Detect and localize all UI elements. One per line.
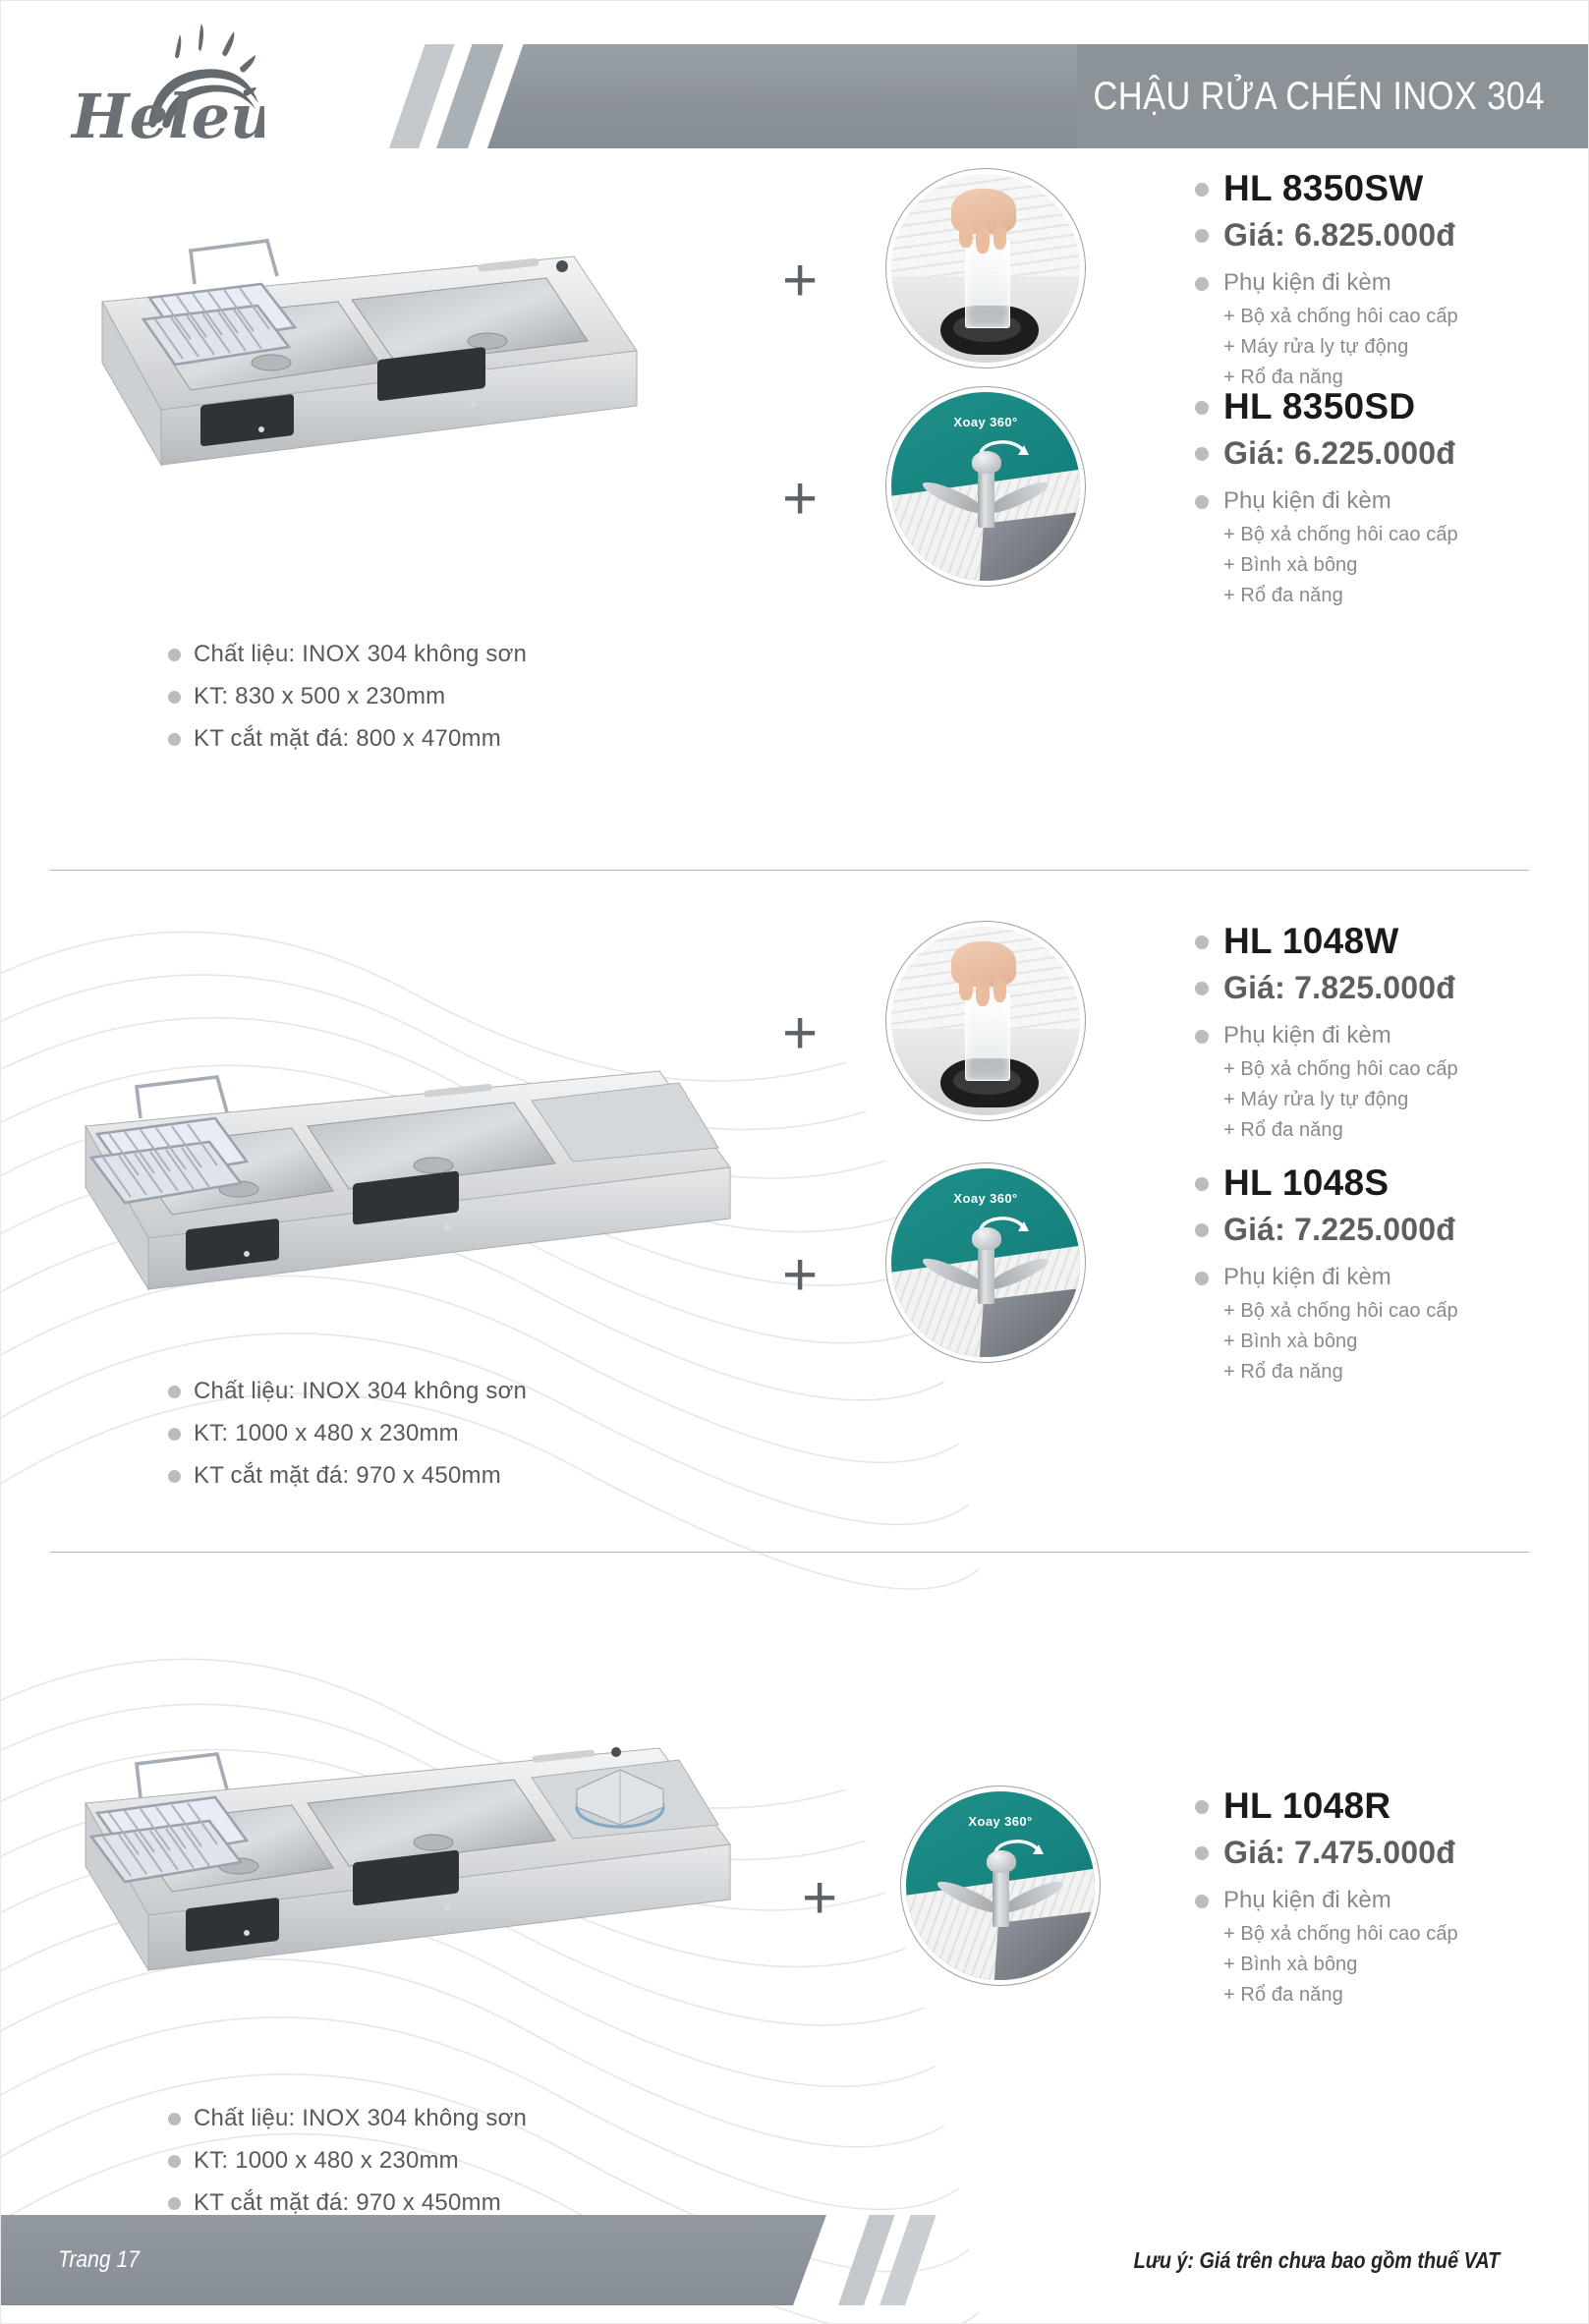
accessories-list: + Bộ xả chống hôi cao cấp + Bình xà bông… [1223, 1919, 1588, 2011]
spec-item: KT cắt mặt đá: 800 x 470mm [168, 724, 527, 754]
product-code: HL 1048R [1223, 1786, 1390, 1828]
spec-material: Chất liệu: INOX 304 không sơn [194, 640, 527, 669]
product-price: Giá: 6.825.000đ [1223, 216, 1455, 254]
product-price-row: Giá: 7.825.000đ [1195, 969, 1588, 1006]
accessory-item: + Rổ đa năng [1223, 1980, 1588, 2011]
heleu-sun-logo-icon: Heleu [38, 23, 264, 150]
accessories-list: + Bộ xả chống hôi cao cấp + Bình xà bông… [1223, 1296, 1588, 1388]
bullet-icon [168, 1428, 181, 1441]
spec-cutout: KT cắt mặt đá: 800 x 470mm [194, 724, 501, 754]
section-divider [50, 1552, 1529, 1553]
accessory-item: + Bộ xả chống hôi cao cấp [1223, 1054, 1588, 1085]
product-section-8350: Chất liệu: INOX 304 không sơn KT: 830 x … [1, 168, 1589, 856]
accessory-item: + Bộ xả chống hôi cao cấp [1223, 520, 1588, 550]
accessory-item: + Bình xà bông [1223, 1327, 1588, 1357]
plus-icon: + [782, 251, 818, 312]
bullet-icon [168, 2155, 181, 2168]
plus-icon: + [782, 1245, 818, 1306]
accessories-title-row: Phụ kiện đi kèm [1195, 1885, 1588, 1915]
product-code: HL 8350SW [1223, 168, 1424, 210]
accessory-image-glass-washer [885, 168, 1086, 368]
bullet-icon [1195, 1272, 1209, 1285]
bullet-icon [168, 1386, 181, 1398]
product-price-row: Giá: 7.225.000đ [1195, 1211, 1588, 1248]
page-footer: Trang 17 Lưu ý: Giá trên chưa bao gồm th… [1, 2215, 1589, 2305]
product-code: HL 8350SD [1223, 386, 1415, 428]
spec-dimensions: KT: 830 x 500 x 230mm [194, 682, 445, 711]
spec-list-1048ws: Chất liệu: INOX 304 không sơn KT: 1000 x… [168, 1377, 527, 1503]
spec-material: Chất liệu: INOX 304 không sơn [194, 1377, 527, 1406]
spec-item: KT cắt mặt đá: 970 x 450mm [168, 1461, 527, 1491]
section-divider [50, 870, 1529, 871]
spec-list-1048r: Chất liệu: INOX 304 không sơn KT: 1000 x… [168, 2104, 527, 2231]
bullet-icon [168, 733, 181, 746]
product-price: Giá: 7.825.000đ [1223, 969, 1455, 1006]
accessories-title-row: Phụ kiện đi kèm [1195, 1020, 1588, 1050]
bullet-icon [1195, 1846, 1209, 1860]
spec-item: KT cắt mặt đá: 970 x 450mm [168, 2188, 527, 2218]
accessory-item: + Máy rửa ly tự động [1223, 332, 1588, 363]
accessories-list: + Bộ xả chống hôi cao cấp + Bình xà bông… [1223, 520, 1588, 611]
product-code-row: HL 1048W [1195, 921, 1588, 963]
product-info-1048r: HL 1048R Giá: 7.475.000đ Phụ kiện đi kèm… [1195, 1786, 1588, 2011]
product-info-1048w: HL 1048W Giá: 7.825.000đ Phụ kiện đi kèm… [1195, 921, 1588, 1146]
bullet-icon [1195, 1223, 1209, 1237]
product-price: Giá: 6.225.000đ [1223, 434, 1455, 472]
spec-item: Chất liệu: INOX 304 không sơn [168, 640, 527, 669]
bullet-icon [1195, 982, 1209, 995]
product-code-row: HL 1048S [1195, 1162, 1588, 1205]
accessory-image-soap-dispenser: Xoay 360° [885, 1162, 1086, 1363]
accessories-title: Phụ kiện đi kèm [1223, 485, 1391, 516]
spec-dimensions: KT: 1000 x 480 x 230mm [194, 2146, 459, 2176]
bullet-icon [1195, 1800, 1209, 1814]
product-code-row: HL 8350SD [1195, 386, 1588, 428]
bullet-icon [1195, 447, 1209, 461]
spec-material: Chất liệu: INOX 304 không sơn [194, 2104, 527, 2133]
product-code-row: HL 8350SW [1195, 168, 1588, 210]
product-price-row: Giá: 6.225.000đ [1195, 434, 1588, 472]
accessories-title-row: Phụ kiện đi kèm [1195, 485, 1588, 516]
spec-item: Chất liệu: INOX 304 không sơn [168, 2104, 527, 2133]
rotate-360-badge: Xoay 360° [891, 415, 1080, 429]
accessory-item: + Rổ đa năng [1223, 581, 1588, 611]
product-section-1048-r: Chất liệu: INOX 304 không sơn KT: 1000 x… [1, 1554, 1589, 2232]
product-price: Giá: 7.475.000đ [1223, 1834, 1455, 1871]
spec-cutout: KT cắt mặt đá: 970 x 450mm [194, 2188, 501, 2218]
product-info-1048s: HL 1048S Giá: 7.225.000đ Phụ kiện đi kèm… [1195, 1162, 1588, 1388]
product-code: HL 1048S [1223, 1162, 1389, 1205]
page-header: Heleu CHẬU RỬA CHÉN INOX 304 [1, 1, 1589, 168]
product-price-row: Giá: 7.475.000đ [1195, 1834, 1588, 1871]
bullet-icon [1195, 1177, 1209, 1191]
spec-dimensions: KT: 1000 x 480 x 230mm [194, 1419, 459, 1448]
spec-list-8350: Chất liệu: INOX 304 không sơn KT: 830 x … [168, 640, 527, 766]
plus-icon: + [782, 469, 818, 530]
bullet-icon [1195, 183, 1209, 197]
spec-item: KT: 1000 x 480 x 230mm [168, 1419, 527, 1448]
bullet-icon [1195, 935, 1209, 949]
accessory-image-glass-washer [885, 921, 1086, 1121]
brand-logo: Heleu [38, 23, 264, 150]
accessories-list: + Bộ xả chống hôi cao cấp + Máy rửa ly t… [1223, 1054, 1588, 1146]
header-banner: CHẬU RỬA CHÉN INOX 304 [389, 44, 1589, 148]
page-title: CHẬU RỬA CHÉN INOX 304 [808, 44, 1568, 148]
product-price: Giá: 7.225.000đ [1223, 1211, 1455, 1248]
accessory-item: + Bình xà bông [1223, 1950, 1588, 1980]
bullet-icon [168, 2197, 181, 2210]
spec-cutout: KT cắt mặt đá: 970 x 450mm [194, 1461, 501, 1491]
bullet-icon [1195, 495, 1209, 509]
bullet-icon [1195, 277, 1209, 291]
accessory-item: + Rổ đa năng [1223, 1357, 1588, 1388]
sink-image-8350 [85, 237, 654, 527]
catalog-page: Heleu CHẬU RỬA CHÉN INOX 304 [0, 0, 1589, 2324]
accessory-image-soap-dispenser: Xoay 360° [900, 1786, 1101, 1986]
vat-note: Lưu ý: Giá trên chưa bao gồm thuế VAT [1133, 2215, 1500, 2305]
accessories-title-row: Phụ kiện đi kèm [1195, 1262, 1588, 1292]
sink-image-1048ws [70, 1057, 758, 1347]
product-info-8350sw: HL 8350SW Giá: 6.825.000đ Phụ kiện đi kè… [1195, 168, 1588, 393]
accessories-title: Phụ kiện đi kèm [1223, 1885, 1391, 1915]
product-info-8350sd: HL 8350SD Giá: 6.225.000đ Phụ kiện đi kè… [1195, 386, 1588, 611]
accessory-image-soap-dispenser: Xoay 360° [885, 386, 1086, 587]
bullet-icon [1195, 401, 1209, 415]
accessories-title-row: Phụ kiện đi kèm [1195, 267, 1588, 298]
rotate-360-badge: Xoay 360° [891, 1191, 1080, 1206]
heleu-wordmark: Heleu [70, 81, 264, 150]
plus-icon: + [802, 1868, 837, 1929]
bullet-icon [168, 691, 181, 704]
plus-icon: + [782, 1003, 818, 1064]
product-price-row: Giá: 6.825.000đ [1195, 216, 1588, 254]
bullet-icon [168, 649, 181, 661]
accessories-list: + Bộ xả chống hôi cao cấp + Máy rửa ly t… [1223, 302, 1588, 393]
bullet-icon [1195, 229, 1209, 243]
product-section-1048-ws: Chất liệu: INOX 304 không sơn KT: 1000 x… [1, 866, 1589, 1544]
accessory-item: + Máy rửa ly tự động [1223, 1085, 1588, 1115]
bullet-icon [168, 2113, 181, 2126]
accessories-title: Phụ kiện đi kèm [1223, 1262, 1391, 1292]
accessory-item: + Bộ xả chống hôi cao cấp [1223, 302, 1588, 332]
sink-image-1048r [70, 1730, 758, 2030]
product-code-row: HL 1048R [1195, 1786, 1588, 1828]
accessory-item: + Bình xà bông [1223, 550, 1588, 581]
page-number: Trang 17 [58, 2215, 140, 2305]
bullet-icon [168, 1470, 181, 1483]
product-code: HL 1048W [1223, 921, 1399, 963]
accessories-title: Phụ kiện đi kèm [1223, 1020, 1391, 1050]
accessory-item: + Bộ xả chống hôi cao cấp [1223, 1919, 1588, 1950]
rotate-360-badge: Xoay 360° [906, 1814, 1095, 1829]
bullet-icon [1195, 1030, 1209, 1044]
accessory-item: + Rổ đa năng [1223, 1115, 1588, 1146]
accessory-item: + Bộ xả chống hôi cao cấp [1223, 1296, 1588, 1327]
accessories-title: Phụ kiện đi kèm [1223, 267, 1391, 298]
spec-item: Chất liệu: INOX 304 không sơn [168, 1377, 527, 1406]
bullet-icon [1195, 1895, 1209, 1908]
spec-item: KT: 1000 x 480 x 230mm [168, 2146, 527, 2176]
spec-item: KT: 830 x 500 x 230mm [168, 682, 527, 711]
